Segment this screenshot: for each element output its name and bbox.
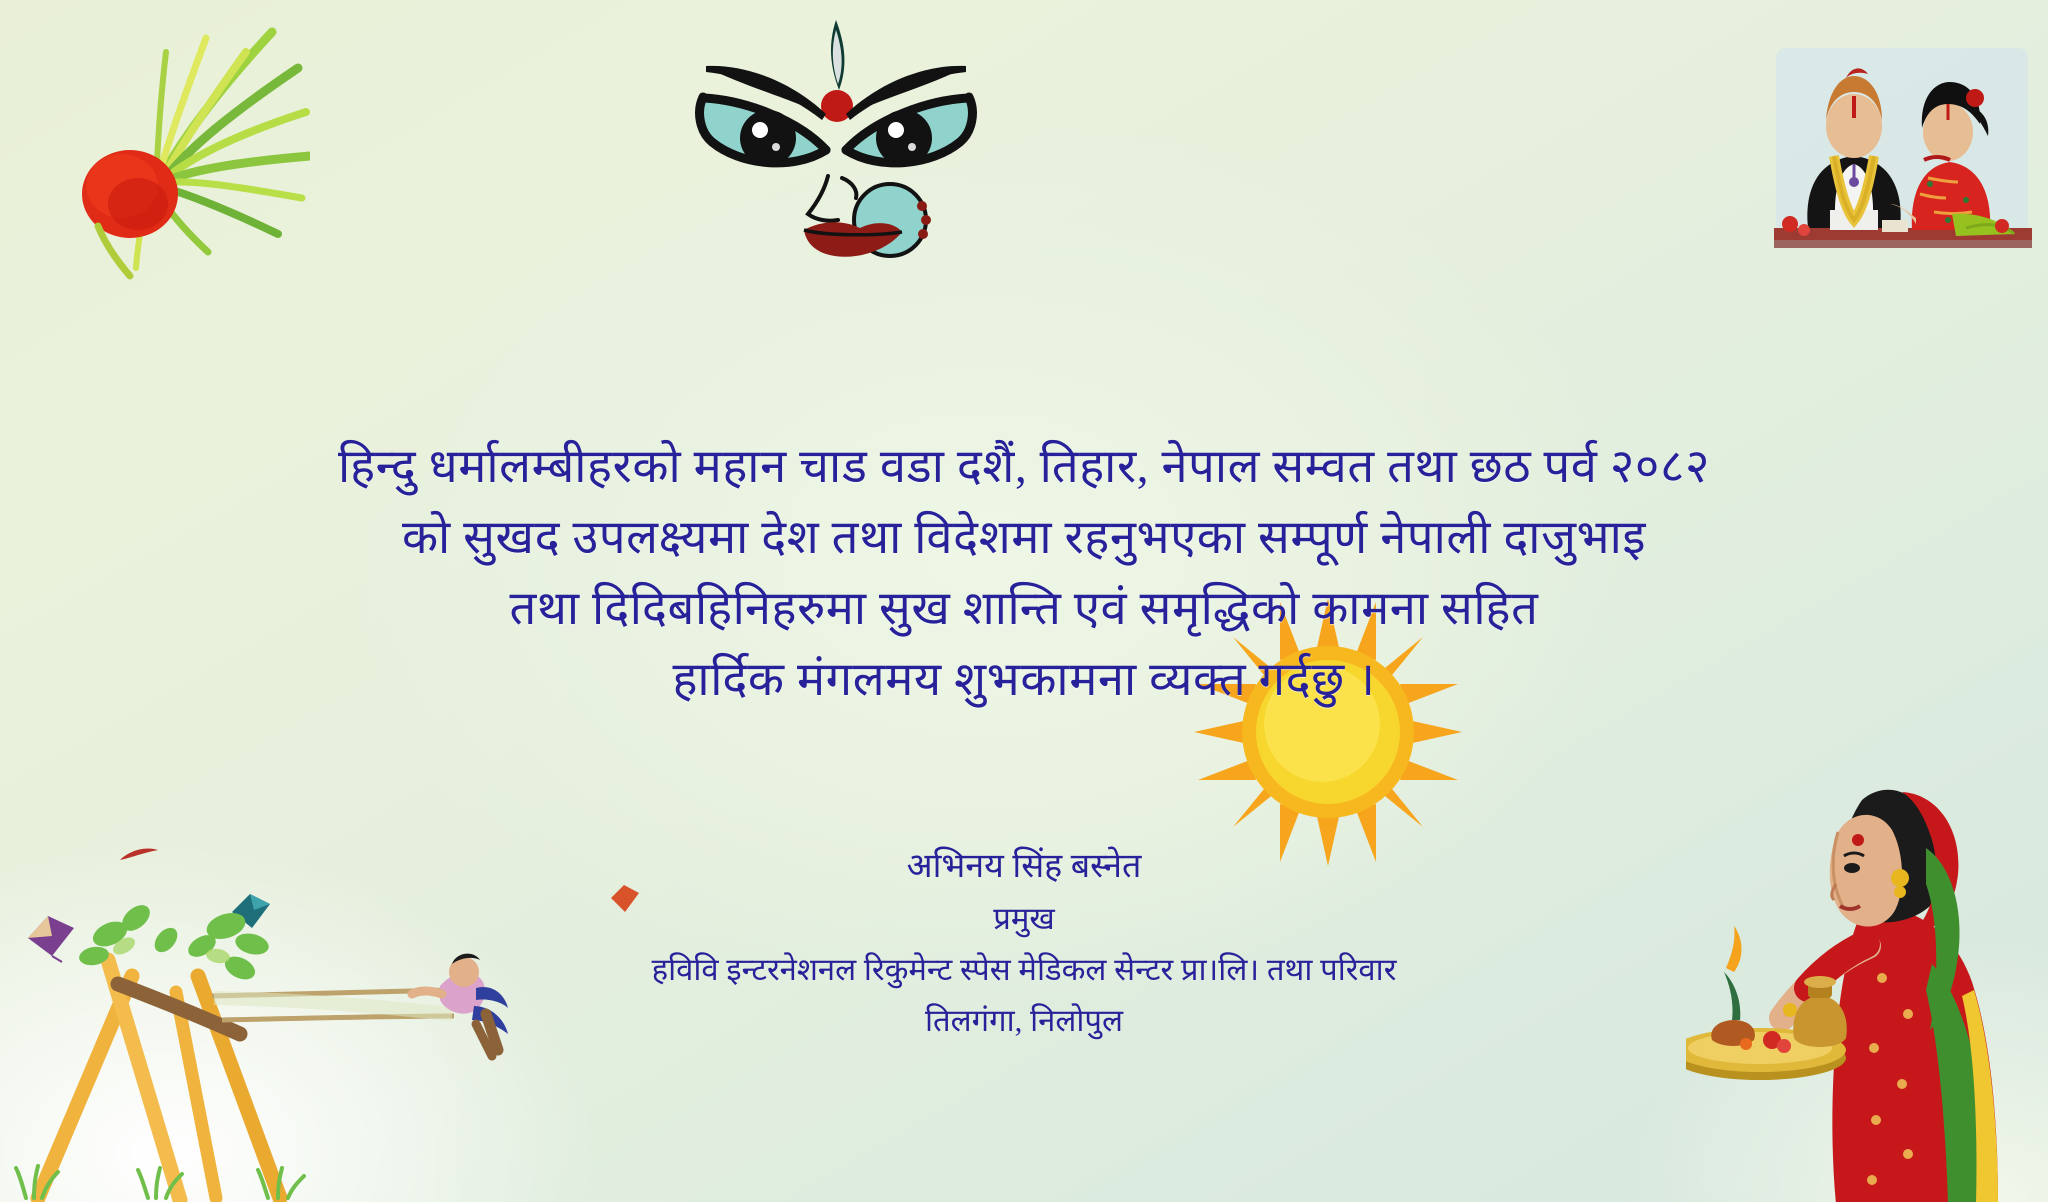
signatory-role: प्रमुख [0, 894, 2048, 944]
bhai-tika-siblings [1770, 14, 2040, 274]
durga-eyes-motif [676, 14, 996, 274]
signatory-location: तिलगंगा, निलोपुल [0, 996, 2048, 1046]
message-line-3: तथा दिदिबहिनिहरुमा सुख शान्ति एवं समृद्ध… [0, 574, 2048, 645]
signatory-name: अभिनय सिंह बस्नेत [0, 840, 2048, 894]
signature-block: अभिनय सिंह बस्नेत प्रमुख हविवि इन्टरनेशन… [0, 840, 2048, 1046]
message-line-4: हार्दिक मंगलमय शुभकामना व्यक्त गर्दछु । [0, 645, 2048, 716]
jamara-tika-motif [10, 0, 310, 284]
signatory-organization: हविवि इन्टरनेशनल रिकुमेन्ट स्पेस मेडिकल … [0, 944, 2048, 996]
greeting-card: हिन्दु धर्मालम्बीहरको महान चाड वडा दशैं,… [0, 0, 2048, 1202]
greeting-message: हिन्दु धर्मालम्बीहरको महान चाड वडा दशैं,… [0, 432, 2048, 716]
message-line-2: को सुखद उपलक्ष्यमा देश तथा विदेशमा रहनुभ… [0, 503, 2048, 574]
message-line-1: हिन्दु धर्मालम्बीहरको महान चाड वडा दशैं,… [0, 432, 2048, 503]
